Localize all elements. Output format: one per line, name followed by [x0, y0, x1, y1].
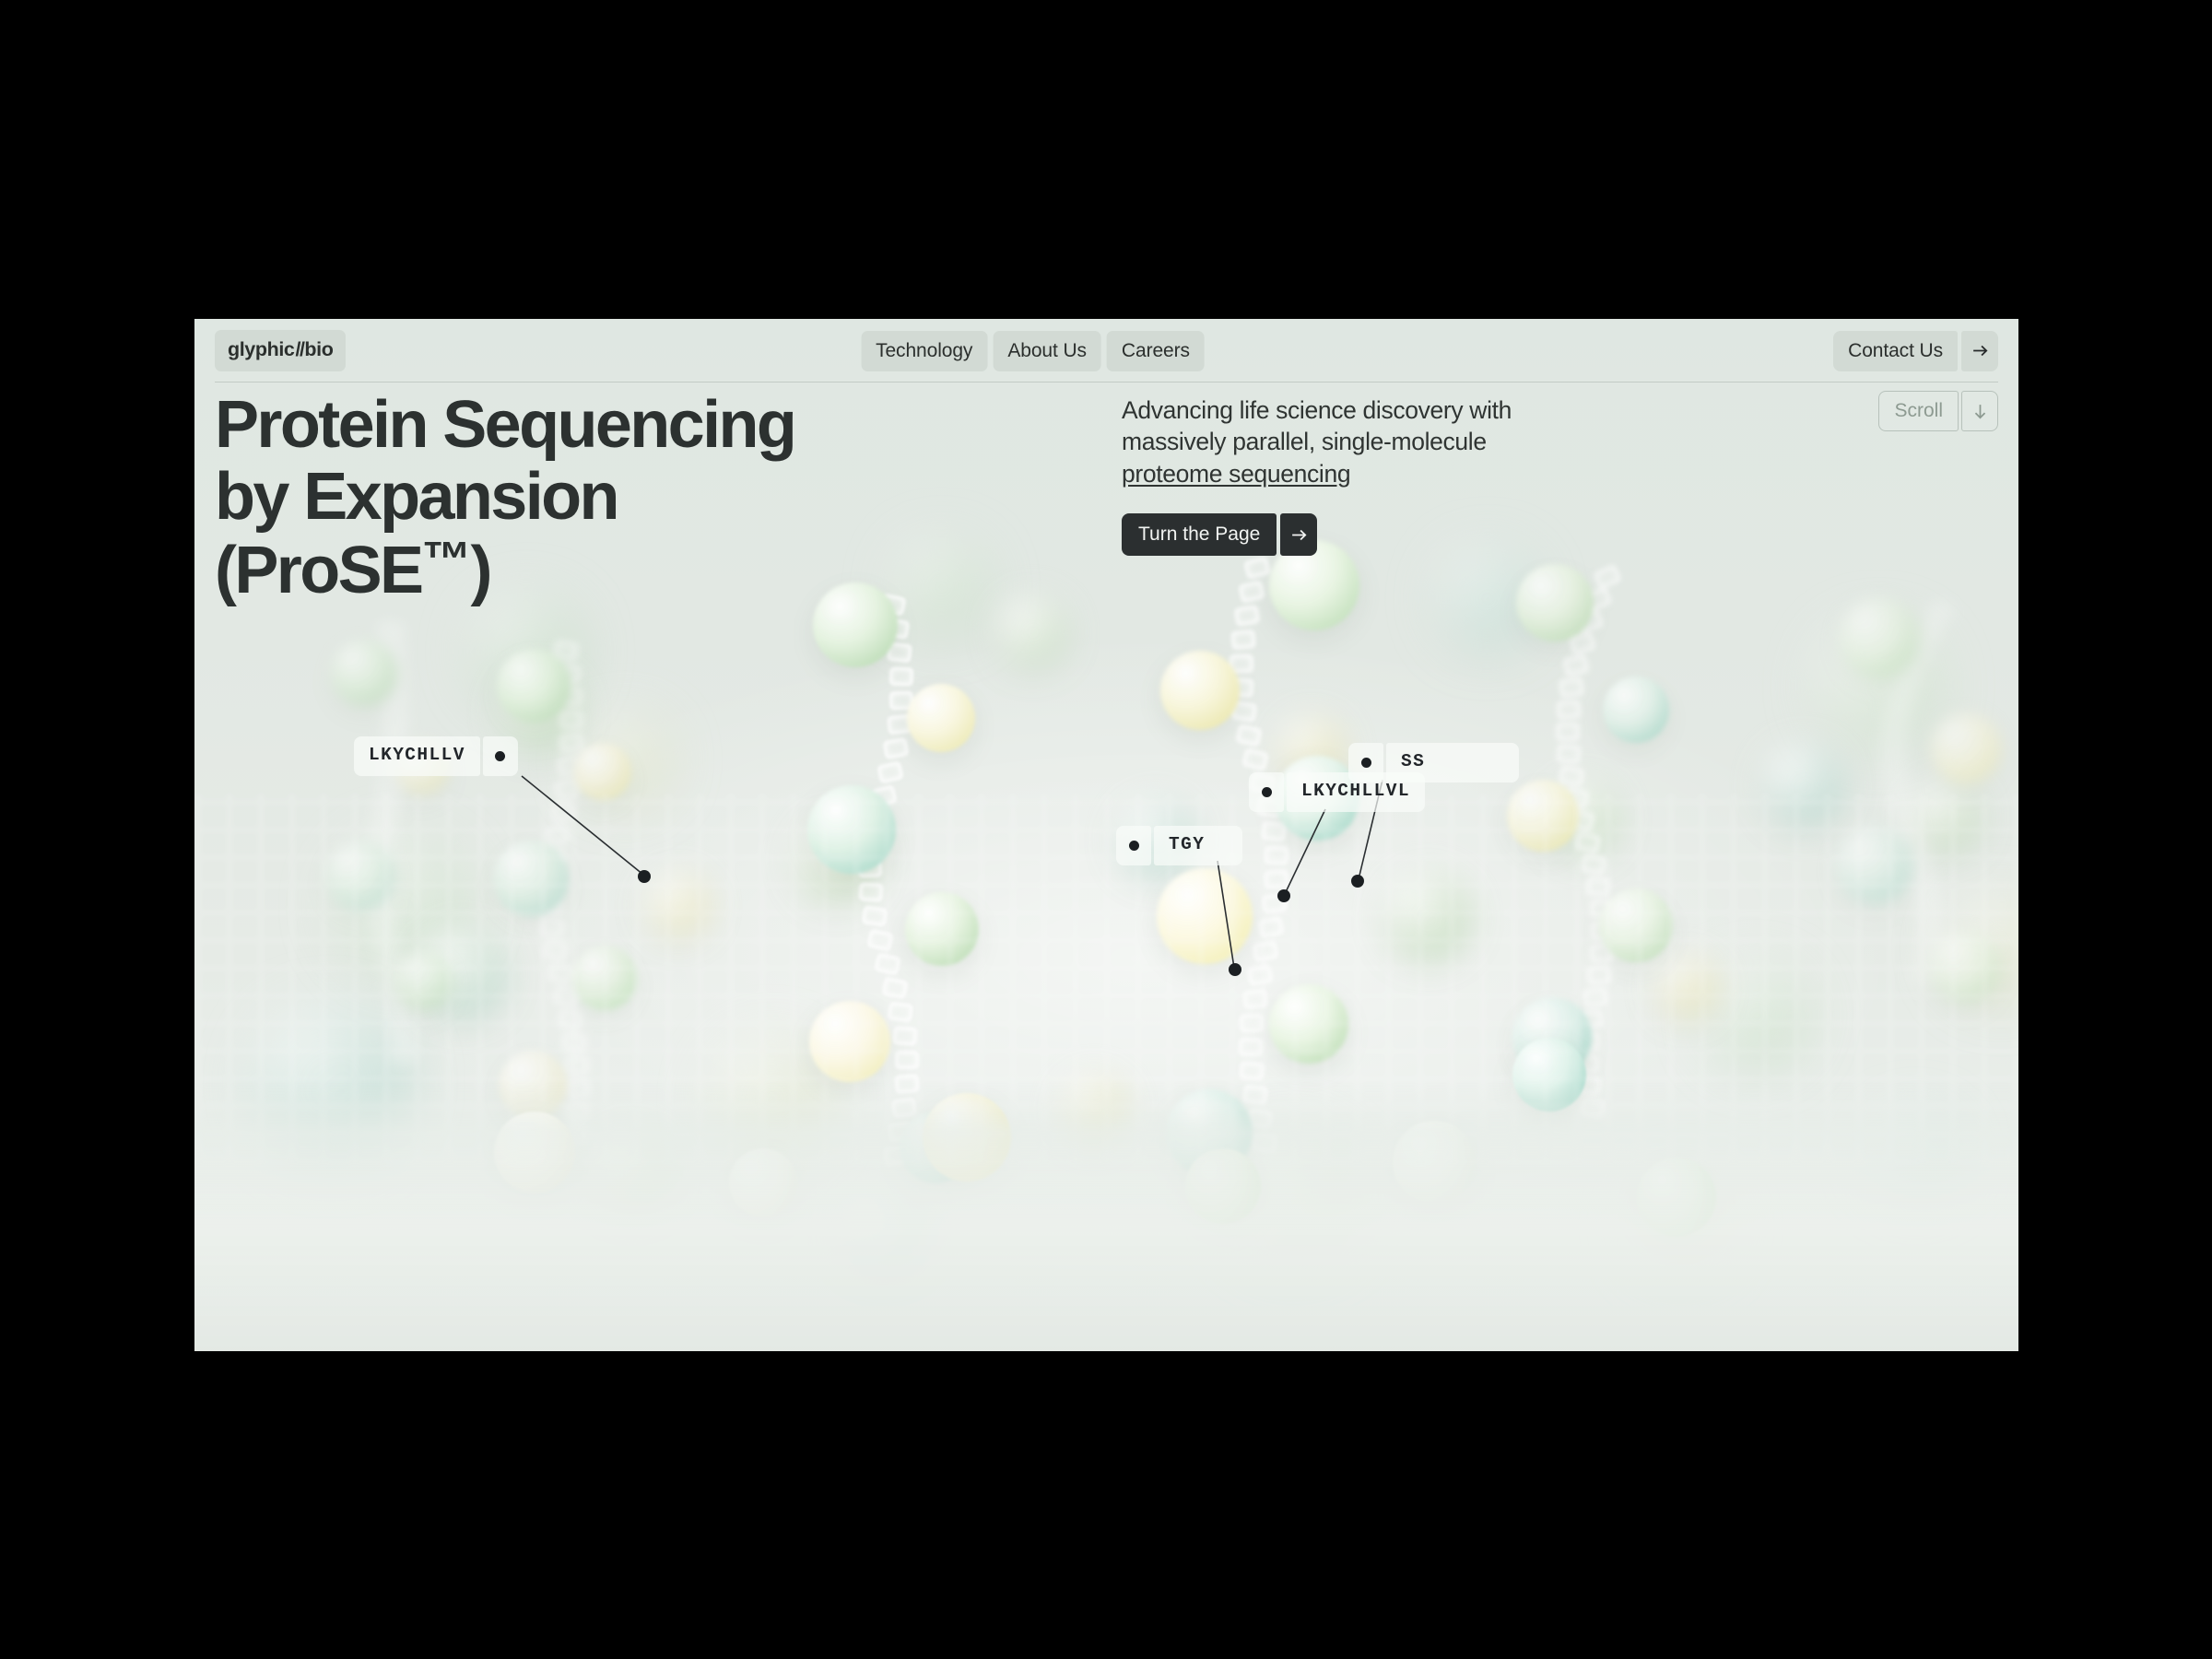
nav-item-technology[interactable]: Technology [861, 331, 987, 371]
site-header: glyphic//bio Technology About Us Careers… [194, 319, 2018, 382]
logo-text-b: bio [304, 338, 333, 360]
annotation-dot-marker [1249, 772, 1284, 812]
nav-item-about-us[interactable]: About Us [993, 331, 1101, 371]
turn-the-page-group: Turn the Page [1122, 513, 1317, 556]
tagline-line-2: massively parallel, single-molecule [1122, 428, 1487, 455]
browser-viewport: glyphic//bio Technology About Us Careers… [194, 319, 2018, 1351]
tagline-line-1: Advancing life science discovery with [1122, 396, 1512, 424]
annotation-dot-marker [1116, 826, 1151, 865]
tagline-link-proteome-sequencing[interactable]: proteome sequencing [1122, 460, 1350, 488]
main-nav: Technology About Us Careers [861, 331, 1205, 371]
headline-line-2: by Expansion [215, 460, 618, 534]
logo-slashes: // [294, 340, 304, 360]
leader-line-tgy [1116, 852, 1264, 981]
headline-line-3: (ProSE™) [215, 534, 490, 607]
header-actions: Contact Us [1833, 331, 1998, 371]
contact-us-arrow-button[interactable] [1961, 331, 1998, 371]
page-title: Protein Sequencing by Expansion (ProSE™) [215, 389, 794, 606]
hero-copy: Advancing life science discovery with ma… [1122, 394, 1610, 556]
headline-prose: (ProSE [215, 534, 421, 607]
logo-text-a: glyphic [228, 338, 294, 360]
scroll-indicator[interactable]: Scroll [1878, 391, 1998, 431]
headline-line-1: Protein Sequencing [215, 388, 794, 462]
nav-item-careers[interactable]: Careers [1107, 331, 1205, 371]
hero-tagline: Advancing life science discovery with ma… [1122, 394, 1610, 489]
arrow-right-icon [1971, 341, 1990, 360]
peptide-sequence-label: TGY [1154, 826, 1242, 865]
leader-line-lkychllv [512, 771, 724, 890]
scroll-label: Scroll [1878, 391, 1959, 431]
header-divider [215, 382, 1998, 382]
annotation-lkychllvl[interactable]: LKYCHLLVL [1249, 772, 1425, 812]
peptide-sequence-label: LKYCHLLV [354, 736, 480, 776]
annotation-tgy[interactable]: TGY [1116, 826, 1242, 865]
turn-the-page-arrow-button[interactable] [1280, 513, 1317, 556]
peptide-sequence-label: LKYCHLLVL [1287, 772, 1425, 812]
headline-close-paren: ) [470, 534, 489, 607]
arrow-right-icon [1289, 525, 1309, 545]
arrow-down-icon [1971, 402, 1990, 421]
logo[interactable]: glyphic//bio [215, 330, 346, 371]
contact-us-button[interactable]: Contact Us [1833, 331, 1958, 371]
turn-the-page-button[interactable]: Turn the Page [1122, 513, 1277, 556]
scroll-down-arrow-button[interactable] [1961, 391, 1998, 431]
annotation-dot-marker [483, 736, 518, 776]
trademark-symbol: ™ [421, 532, 470, 587]
annotation-lkychllv[interactable]: LKYCHLLV [354, 736, 518, 776]
